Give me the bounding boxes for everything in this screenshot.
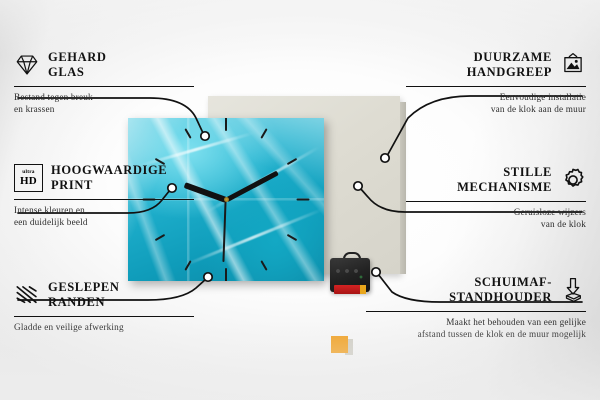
hour-tick	[225, 118, 227, 131]
mechanism-detail	[334, 268, 364, 280]
divider	[14, 316, 194, 317]
clock-mechanism	[330, 252, 370, 292]
divider	[14, 86, 194, 87]
clock-center-cap	[224, 197, 229, 202]
infographic-canvas: GEHARD GLAS Bestand tegen breuk en krass…	[0, 0, 600, 400]
feature-description: Gladde en veilige afwerking	[14, 321, 194, 333]
ultra-hd-badge-icon: ultra HD	[14, 164, 43, 192]
battery	[334, 285, 366, 294]
feature-header: STILLE MECHANISME	[406, 165, 586, 196]
feature-header: DUURZAME HANDGREEP	[406, 50, 586, 81]
feature-description: Eenvoudige installatie van de klok aan d…	[406, 91, 586, 115]
divider	[406, 86, 586, 87]
hour-tick	[287, 234, 298, 241]
hour-tick	[287, 158, 298, 165]
feature-title: DUURZAME HANDGREEP	[406, 50, 552, 81]
feature-header: GEHARD GLAS	[14, 50, 194, 81]
feature-hoogwaardige-print: ultra HD HOOGWAARDIGE PRINT Intense kleu…	[14, 163, 194, 228]
feature-title: GESLEPEN RANDEN	[48, 280, 120, 311]
hour-tick	[296, 199, 309, 201]
hour-tick	[184, 128, 191, 139]
mechanism-body	[330, 258, 370, 292]
light-streak	[183, 208, 323, 267]
feature-geslepen-randen: GESLEPEN RANDEN Gladde en veilige afwerk…	[14, 280, 194, 333]
feature-title: SCHUIMAF- STANDHOUDER	[366, 275, 552, 306]
hour-tick	[261, 261, 268, 272]
divider	[406, 201, 586, 202]
diagonal-lines-icon	[14, 282, 40, 308]
feature-description: Bestand tegen breuk en krassen	[14, 91, 194, 115]
hour-tick	[225, 268, 227, 281]
minute-hand	[225, 170, 279, 202]
hour-tick	[154, 234, 165, 241]
picture-hanger-icon	[560, 52, 586, 78]
feature-description: Geruisloze wijzers van de klok	[406, 206, 586, 230]
feature-header: ultra HD HOOGWAARDIGE PRINT	[14, 163, 194, 194]
feature-title: HOOGWAARDIGE PRINT	[51, 163, 167, 194]
second-hand	[223, 199, 227, 261]
feature-title: GEHARD GLAS	[48, 50, 106, 81]
feature-gehard-glas: GEHARD GLAS Bestand tegen breuk en krass…	[14, 50, 194, 115]
feature-title: STILLE MECHANISME	[406, 165, 552, 196]
feature-stille-mechanisme: STILLE MECHANISME Geruisloze wijzers van…	[406, 165, 586, 230]
hour-tick	[184, 261, 191, 272]
diamond-icon	[14, 52, 40, 78]
divider	[14, 199, 194, 200]
feature-schuimaf-standhouder: SCHUIMAF- STANDHOUDER Maakt het behouden…	[366, 275, 586, 340]
feature-header: SCHUIMAF- STANDHOUDER	[366, 275, 586, 306]
foam-spacer	[331, 336, 353, 355]
feature-header: GESLEPEN RANDEN	[14, 280, 194, 311]
gear-icon	[560, 167, 586, 193]
foam-spacer-top	[331, 336, 348, 353]
feature-duurzame-handgreep: DUURZAME HANDGREEP Eenvoudige installati…	[406, 50, 586, 115]
feature-description: Intense kleuren en een duidelijk beeld	[14, 204, 194, 228]
divider	[366, 311, 586, 312]
hour-tick	[261, 128, 268, 139]
feature-description: Maakt het behouden van een gelijke afsta…	[366, 316, 586, 340]
foam-spacer-arrow-icon	[560, 277, 586, 303]
